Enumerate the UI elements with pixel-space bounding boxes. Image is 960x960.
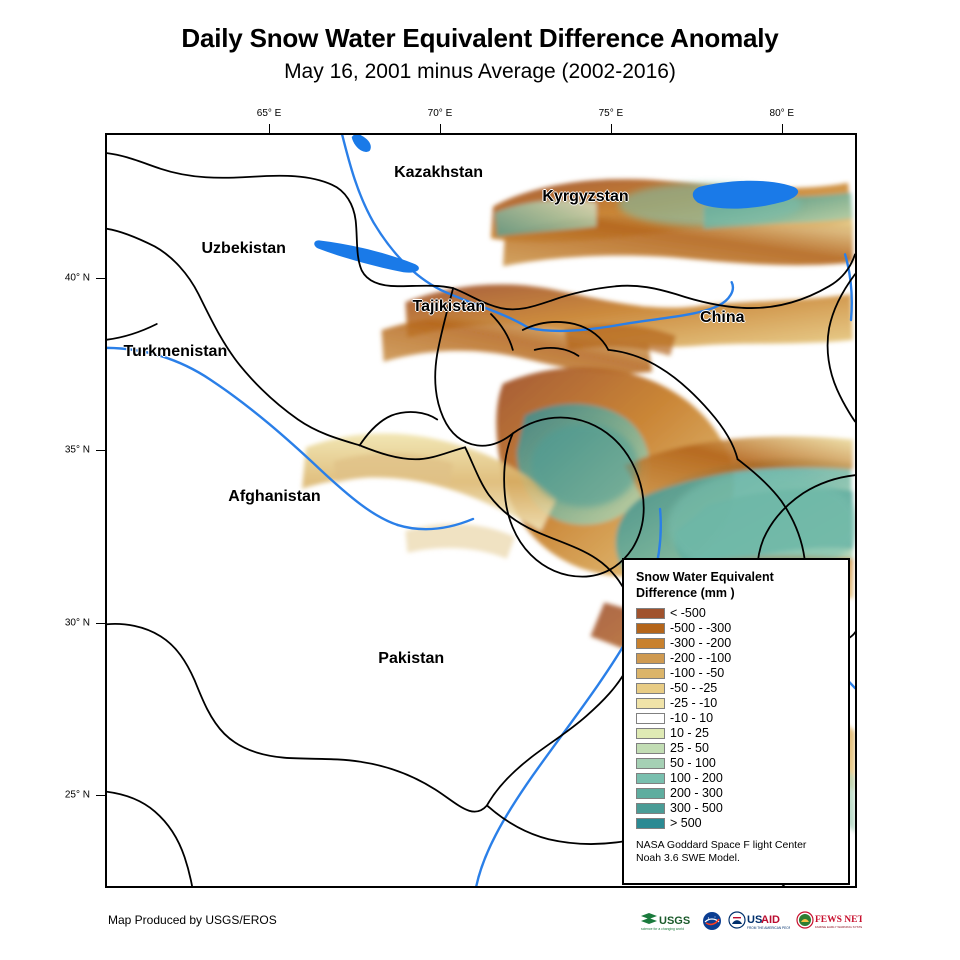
legend-label: -10 - 10 xyxy=(670,712,713,725)
legend-swatch xyxy=(636,698,665,709)
legend-label: 300 - 500 xyxy=(670,802,723,815)
y-axis-tick-label: 30° N xyxy=(65,617,90,628)
x-axis-tick-label: 65° E xyxy=(257,108,282,119)
legend-row: -10 - 10 xyxy=(636,711,838,726)
x-axis-tick xyxy=(782,124,783,133)
legend-row: -25 - -10 xyxy=(636,696,838,711)
svg-text:USGS: USGS xyxy=(659,915,690,927)
legend-label: 50 - 100 xyxy=(670,757,716,770)
y-axis-tick-label: 35° N xyxy=(65,445,90,456)
legend-row: -500 - -300 xyxy=(636,621,838,636)
x-axis-tick-label: 80° E xyxy=(770,108,795,119)
legend-swatch xyxy=(636,818,665,829)
y-axis-tick-label: 40° N xyxy=(65,272,90,283)
y-axis-tick xyxy=(96,623,105,624)
legend-row: -300 - -200 xyxy=(636,636,838,651)
legend-row: 10 - 25 xyxy=(636,726,838,741)
legend-label: -100 - -50 xyxy=(670,667,724,680)
legend-row: -200 - -100 xyxy=(636,651,838,666)
legend-row: > 500 xyxy=(636,816,838,831)
svg-text:US: US xyxy=(747,914,762,926)
legend-label: 200 - 300 xyxy=(670,787,723,800)
legend-row: 100 - 200 xyxy=(636,771,838,786)
legend-swatch xyxy=(636,623,665,634)
y-axis-tick xyxy=(96,278,105,279)
logo-strip: USGS science for a changing world US AID… xyxy=(640,910,862,932)
nasa-logo xyxy=(702,911,722,931)
legend-label: 25 - 50 xyxy=(670,742,709,755)
usaid-logo: US AID FROM THE AMERICAN PEOPLE xyxy=(728,911,790,931)
legend-label: 10 - 25 xyxy=(670,727,709,740)
legend-row: -50 - -25 xyxy=(636,681,838,696)
legend-row: 25 - 50 xyxy=(636,741,838,756)
legend-swatch xyxy=(636,653,665,664)
legend-label: -200 - -100 xyxy=(670,652,731,665)
legend-label: 100 - 200 xyxy=(670,772,723,785)
x-axis-tick xyxy=(611,124,612,133)
svg-text:FROM THE AMERICAN PEOPLE: FROM THE AMERICAN PEOPLE xyxy=(747,926,790,930)
svg-text:FAMINE EARLY WARNING SYSTEMS N: FAMINE EARLY WARNING SYSTEMS NETWORK xyxy=(815,925,862,929)
fewsnet-logo: FEWS NET FAMINE EARLY WARNING SYSTEMS NE… xyxy=(796,911,862,931)
title-block: Daily Snow Water Equivalent Difference A… xyxy=(0,22,960,86)
legend-row: 300 - 500 xyxy=(636,801,838,816)
y-axis-tick xyxy=(96,795,105,796)
x-axis-tick-label: 75° E xyxy=(599,108,624,119)
legend-swatch xyxy=(636,608,665,619)
x-axis-tick xyxy=(440,124,441,133)
legend-label: -500 - -300 xyxy=(670,622,731,635)
y-axis-tick-label: 25° N xyxy=(65,789,90,800)
svg-text:FEWS NET: FEWS NET xyxy=(815,915,862,925)
legend-row: < -500 xyxy=(636,606,838,621)
legend-row: 200 - 300 xyxy=(636,786,838,801)
legend-credit: NASA Goddard Space F light Center Noah 3… xyxy=(636,839,838,865)
legend-label: -50 - -25 xyxy=(670,682,717,695)
y-axis-tick xyxy=(96,450,105,451)
legend-label: > 500 xyxy=(670,817,702,830)
legend-swatch xyxy=(636,638,665,649)
svg-text:AID: AID xyxy=(761,914,780,926)
legend-label: -300 - -200 xyxy=(670,637,731,650)
svg-text:science for a changing world: science for a changing world xyxy=(641,927,684,931)
map-producer-credit: Map Produced by USGS/EROS xyxy=(108,913,277,927)
legend-swatch xyxy=(636,773,665,784)
legend-swatch xyxy=(636,758,665,769)
legend-title: Snow Water Equivalent Difference (mm ) xyxy=(636,569,838,601)
legend-swatch xyxy=(636,713,665,724)
legend-label: -25 - -10 xyxy=(670,697,717,710)
legend-label: < -500 xyxy=(670,607,706,620)
legend-swatch xyxy=(636,668,665,679)
usgs-logo: USGS science for a changing world xyxy=(640,911,696,931)
legend-items: < -500-500 - -300-300 - -200-200 - -100-… xyxy=(636,606,838,831)
page-title: Daily Snow Water Equivalent Difference A… xyxy=(0,22,960,54)
legend-swatch xyxy=(636,728,665,739)
x-axis-tick-label: 70° E xyxy=(428,108,453,119)
legend-row: 50 - 100 xyxy=(636,756,838,771)
x-axis-tick xyxy=(269,124,270,133)
legend: Snow Water Equivalent Difference (mm ) <… xyxy=(622,558,850,885)
page-subtitle: May 16, 2001 minus Average (2002-2016) xyxy=(0,58,960,86)
legend-row: -100 - -50 xyxy=(636,666,838,681)
legend-swatch xyxy=(636,803,665,814)
legend-swatch xyxy=(636,743,665,754)
legend-swatch xyxy=(636,683,665,694)
legend-swatch xyxy=(636,788,665,799)
